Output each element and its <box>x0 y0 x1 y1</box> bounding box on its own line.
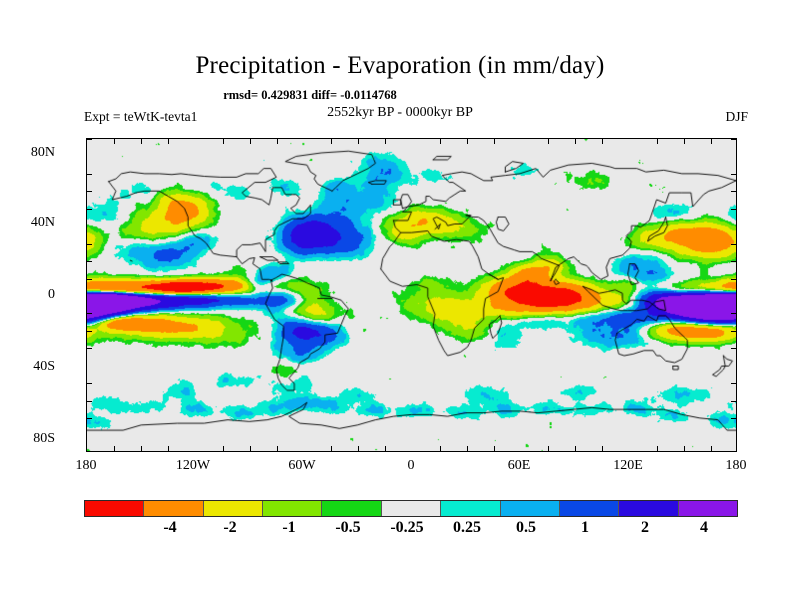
y-tick-mark <box>87 139 92 140</box>
colorbar-swatch-2 <box>203 501 262 516</box>
x-tick-mark-top <box>548 139 549 144</box>
y-tick-mark-right <box>731 209 736 210</box>
y-tick-mark-right <box>731 383 736 384</box>
x-tick-mark-top <box>657 139 658 144</box>
colorbar <box>84 500 738 517</box>
x-tick-mark <box>385 446 386 451</box>
colorbar-tick-label: -2 <box>200 519 260 537</box>
colorbar-swatch-1 <box>143 501 202 516</box>
x-tick-mark <box>141 446 142 451</box>
x-tick-mark <box>440 446 441 451</box>
x-tick-mark <box>630 451 631 452</box>
x-tick-mark-top <box>494 139 495 144</box>
x-tick-mark <box>304 451 305 452</box>
x-tick-mark <box>358 446 359 451</box>
y-tick-mark <box>86 156 87 157</box>
x-tick-mark <box>684 446 685 451</box>
colorbar-swatch-7 <box>500 501 559 516</box>
y-tick-mark-right <box>731 174 736 175</box>
y-tick-mark <box>87 279 92 280</box>
y-tick-mark <box>87 418 92 419</box>
y-tick-mark-right <box>731 331 736 332</box>
colorbar-tick-label: -1 <box>259 519 319 537</box>
x-tick-mark-top <box>602 139 603 144</box>
colorbar-tick-label: 0.25 <box>437 519 497 537</box>
x-tick-mark <box>575 446 576 451</box>
y-tick-mark <box>87 348 92 349</box>
x-axis-tick-label: 60W <box>267 458 337 474</box>
x-tick-mark-top <box>196 138 197 139</box>
x-tick-mark <box>548 446 549 451</box>
x-tick-mark <box>521 451 522 452</box>
x-tick-mark <box>467 446 468 451</box>
y-tick-mark <box>87 244 92 245</box>
x-tick-mark-top <box>358 139 359 144</box>
x-tick-mark <box>168 446 169 451</box>
x-tick-mark-top <box>413 138 414 139</box>
page-title: Precipitation - Evaporation (in mm/day) <box>0 52 800 80</box>
y-axis-tick-label: 0 <box>0 287 55 303</box>
colorbar-tick-label: 0.5 <box>496 519 556 537</box>
y-axis-tick-label: 40N <box>0 215 55 231</box>
x-tick-mark <box>711 446 712 451</box>
y-axis-tick-label: 80S <box>0 431 55 447</box>
colorbar-swatch-6 <box>440 501 499 516</box>
y-tick-mark <box>86 436 87 437</box>
x-tick-mark <box>494 446 495 451</box>
y-tick-mark-right <box>731 139 736 140</box>
y-tick-mark-right <box>731 313 736 314</box>
x-tick-mark-top <box>630 138 631 139</box>
y-tick-mark-right <box>731 401 736 402</box>
y-tick-mark-right <box>731 261 736 262</box>
x-tick-mark-top <box>521 138 522 139</box>
y-tick-mark-right <box>736 226 737 227</box>
colorbar-swatch-3 <box>262 501 321 516</box>
y-tick-mark <box>87 191 92 192</box>
y-tick-mark <box>87 313 92 314</box>
x-tick-mark <box>114 446 115 451</box>
x-tick-mark <box>223 446 224 451</box>
colorbar-tick-label: 4 <box>674 519 734 537</box>
map-plot-area <box>86 138 737 452</box>
x-axis-tick-label: 180 <box>51 458 121 474</box>
x-tick-mark-top <box>223 139 224 144</box>
x-tick-mark-top <box>277 139 278 144</box>
x-tick-mark-top <box>168 139 169 144</box>
y-axis-tick-label: 80N <box>0 145 55 161</box>
y-tick-mark <box>87 261 92 262</box>
colorbar-swatch-5 <box>381 501 440 516</box>
colorbar-tick-label: -0.25 <box>377 519 437 537</box>
x-tick-mark-top <box>711 139 712 144</box>
colorbar-swatches <box>84 500 738 517</box>
experiment-label: Expt = teWtK-tevta1 <box>84 109 197 125</box>
colorbar-swatch-8 <box>559 501 618 516</box>
x-tick-mark <box>331 446 332 451</box>
x-tick-mark-top <box>440 139 441 144</box>
y-tick-mark <box>87 331 92 332</box>
y-tick-mark <box>86 366 87 367</box>
y-tick-mark <box>87 209 92 210</box>
x-axis-tick-label: 120E <box>593 458 663 474</box>
x-tick-mark-top <box>575 139 576 144</box>
colorbar-swatch-10 <box>678 501 737 516</box>
y-tick-mark-right <box>731 279 736 280</box>
x-axis-tick-label: 60E <box>484 458 554 474</box>
y-tick-mark-right <box>731 418 736 419</box>
x-tick-mark-top <box>141 139 142 144</box>
x-tick-mark-top <box>331 139 332 144</box>
x-tick-mark-top <box>304 138 305 139</box>
y-tick-mark <box>87 401 92 402</box>
y-tick-mark-right <box>736 156 737 157</box>
y-tick-mark-right <box>736 296 737 297</box>
y-tick-mark-right <box>731 191 736 192</box>
y-axis-tick-label: 40S <box>0 359 55 375</box>
colorbar-tick-label: -4 <box>140 519 200 537</box>
x-tick-mark <box>602 446 603 451</box>
y-tick-mark <box>86 226 87 227</box>
y-tick-mark-right <box>731 244 736 245</box>
x-tick-mark-top <box>467 139 468 144</box>
y-tick-mark <box>87 383 92 384</box>
map-data-canvas <box>87 139 736 451</box>
colorbar-swatch-0 <box>85 501 143 516</box>
x-tick-mark-top <box>250 139 251 144</box>
y-tick-mark-right <box>736 366 737 367</box>
x-axis-tick-label: 120W <box>158 458 228 474</box>
colorbar-swatch-4 <box>321 501 380 516</box>
x-tick-mark <box>250 446 251 451</box>
x-tick-mark <box>657 446 658 451</box>
colorbar-tick-label: 1 <box>555 519 615 537</box>
y-tick-mark-right <box>731 348 736 349</box>
colorbar-tick-label: 2 <box>615 519 675 537</box>
x-tick-mark-top <box>684 139 685 144</box>
x-tick-mark <box>196 451 197 452</box>
x-tick-mark-top <box>114 139 115 144</box>
x-axis-tick-label: 0 <box>376 458 446 474</box>
x-axis-tick-label: 180 <box>701 458 771 474</box>
x-tick-mark <box>277 446 278 451</box>
y-tick-mark-right <box>736 436 737 437</box>
x-tick-mark-top <box>385 139 386 144</box>
season-label: DJF <box>725 109 748 125</box>
colorbar-swatch-9 <box>618 501 677 516</box>
colorbar-tick-label: -0.5 <box>318 519 378 537</box>
x-tick-mark <box>87 451 88 452</box>
x-tick-mark <box>413 451 414 452</box>
statistics-line: rmsd= 0.429831 diff= -0.0114768 <box>0 88 620 103</box>
y-tick-mark <box>87 174 92 175</box>
y-tick-mark <box>86 296 87 297</box>
figure-root: Precipitation - Evaporation (in mm/day) … <box>0 0 800 600</box>
